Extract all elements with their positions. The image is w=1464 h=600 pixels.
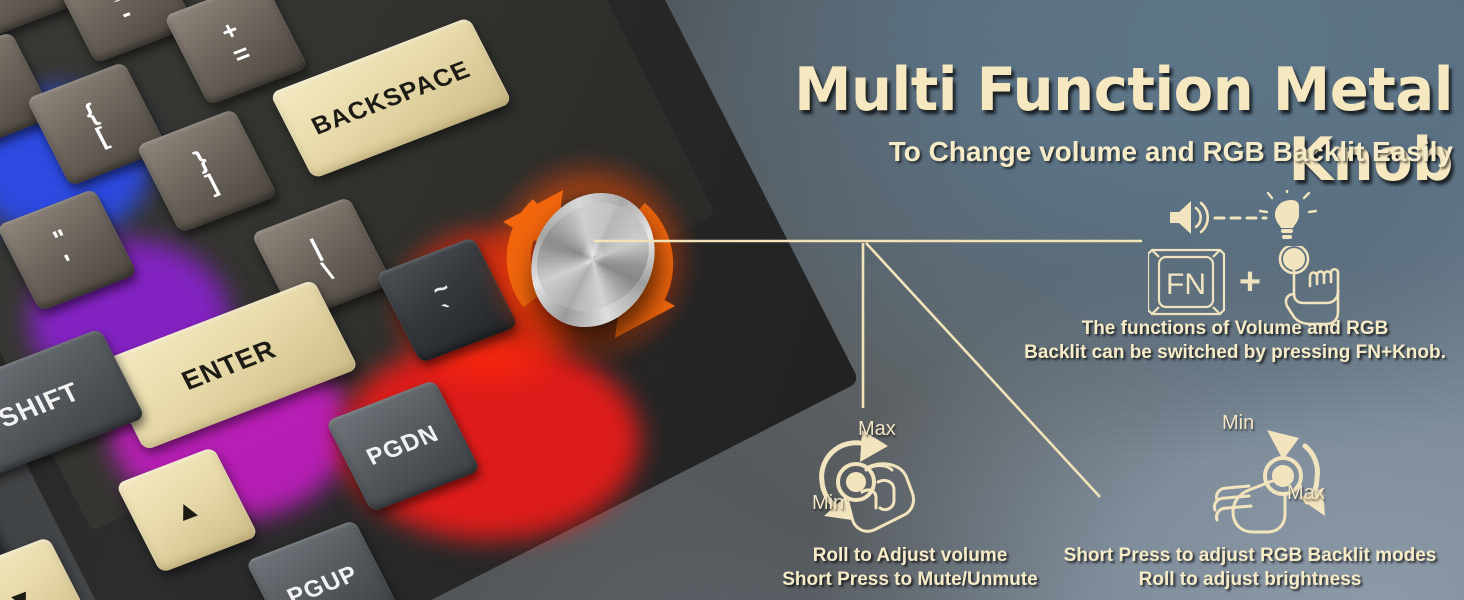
fn-knob-caption: The functions of Volume and RGB Backlit …: [1010, 317, 1460, 366]
volume-min-label: Min: [812, 492, 844, 515]
key-label: ▼: [2, 581, 42, 600]
rgb-min-label: Min: [1222, 412, 1254, 435]
volume-max-label: Max: [858, 418, 896, 441]
speaker-icon: [1170, 201, 1191, 234]
key-label: ~ `: [428, 274, 467, 326]
key-label: " ': [49, 224, 85, 275]
page-subtitle: To Change volume and RGB Backlit Easily: [613, 136, 1453, 168]
product-banner: O P _ - + = { [ } ] " ' | \ BACKSPACE EN…: [0, 0, 1464, 600]
key-label: } ]: [190, 146, 224, 196]
plus-sign-label: +: [1239, 261, 1261, 303]
lightbulb-icon: [1260, 190, 1316, 239]
key-label: SHIFT: [0, 376, 85, 434]
hand-press-knob-icon: [1280, 246, 1338, 324]
key-label: PGDN: [362, 420, 444, 471]
key-label: P: [0, 74, 2, 112]
arrow-head-min: [1267, 430, 1299, 460]
key-label: ▲: [167, 491, 207, 529]
key-label: | \: [306, 234, 337, 283]
knob-center-icon: [846, 472, 866, 492]
rgb-max-label: Max: [1287, 482, 1325, 505]
fn-key-label: FN: [1166, 268, 1206, 301]
hand-press-knob-icon: [1214, 480, 1285, 532]
speaker-waves-icon: [1196, 203, 1208, 232]
fn-plus-hand-group: FN +: [1148, 246, 1348, 326]
key-label: _ -: [104, 0, 142, 26]
rgb-backlit-icon-group: [1205, 418, 1375, 538]
key-label: PGUP: [283, 561, 363, 600]
key-label: { [: [80, 99, 114, 149]
key-label: + =: [217, 16, 256, 68]
key-label: ENTER: [177, 334, 282, 396]
page-title: Multi Function Metal Knob: [647, 55, 1453, 195]
rgb-backlit-caption: Short Press to adjust RGB Backlit modes …: [1040, 544, 1460, 593]
